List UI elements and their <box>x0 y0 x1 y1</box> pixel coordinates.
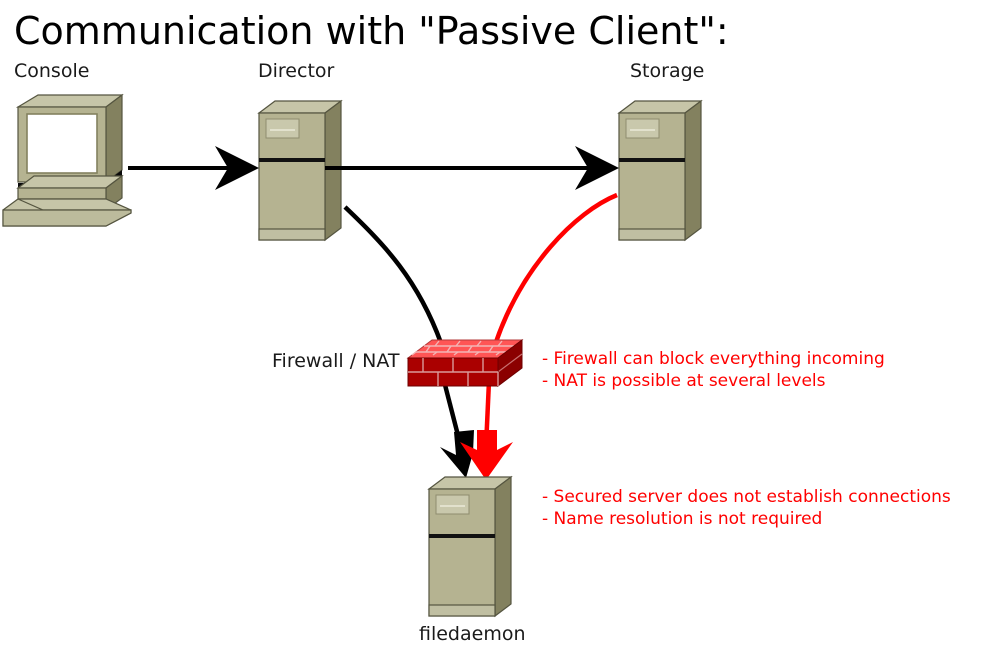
monitor-screen <box>27 114 97 173</box>
connection-storage-to-filedaemon <box>460 195 617 480</box>
node-label-storage: Storage <box>630 60 704 82</box>
network-diagram: Communication with "Passive Client": Con… <box>0 0 1000 648</box>
storage-tower-plinth <box>619 229 685 240</box>
node-label-firewall: Firewall / NAT <box>272 350 400 372</box>
annotation-firewall-notes: - Firewall can block everything incoming… <box>542 349 885 391</box>
filedaemon-tower-plinth <box>429 605 495 616</box>
annotation-filedaemon-line-1: - Secured server does not establish conn… <box>542 487 951 507</box>
filedaemon-tower-divider <box>429 534 495 538</box>
annotation-filedaemon-line-2: - Name resolution is not required <box>542 509 822 529</box>
annotation-firewall-line-2: - NAT is possible at several levels <box>542 371 826 391</box>
server-tower-icon-filedaemon[interactable] <box>429 477 511 616</box>
connection-director-to-storage <box>325 146 619 190</box>
desktop-computer-icon[interactable] <box>3 95 131 226</box>
diagram-canvas: Communication with "Passive Client": Con… <box>0 0 1000 648</box>
filedaemon-drive-bay <box>436 495 469 514</box>
annotation-filedaemon-notes: - Secured server does not establish conn… <box>542 487 951 529</box>
filedaemon-tower-side <box>495 477 511 616</box>
director-drive-bay <box>266 119 299 138</box>
director-filedaemon-curve-upper <box>345 207 441 343</box>
director-tower-divider <box>259 158 325 162</box>
annotation-firewall-line-1: - Firewall can block everything incoming <box>542 349 885 369</box>
server-tower-icon-storage[interactable] <box>619 101 701 240</box>
computer-base-top <box>18 176 122 188</box>
director-tower-plinth <box>259 229 325 240</box>
connection-console-to-director <box>128 146 259 190</box>
node-label-console: Console <box>14 60 89 82</box>
director-tower-side <box>325 101 341 240</box>
keyboard-face <box>3 210 131 226</box>
storage-filedaemon-curve-upper <box>496 195 617 342</box>
brick-wall-icon[interactable] <box>408 340 522 386</box>
node-label-filedaemon: filedaemon <box>419 623 526 645</box>
storage-tower-divider <box>619 158 685 162</box>
node-label-director: Director <box>258 60 335 82</box>
page-title: Communication with "Passive Client": <box>14 9 729 53</box>
storage-drive-bay <box>626 119 659 138</box>
monitor-side-face <box>106 95 122 182</box>
monitor-top-face <box>18 95 122 107</box>
server-tower-icon-director[interactable] <box>259 101 341 240</box>
storage-tower-side <box>685 101 701 240</box>
